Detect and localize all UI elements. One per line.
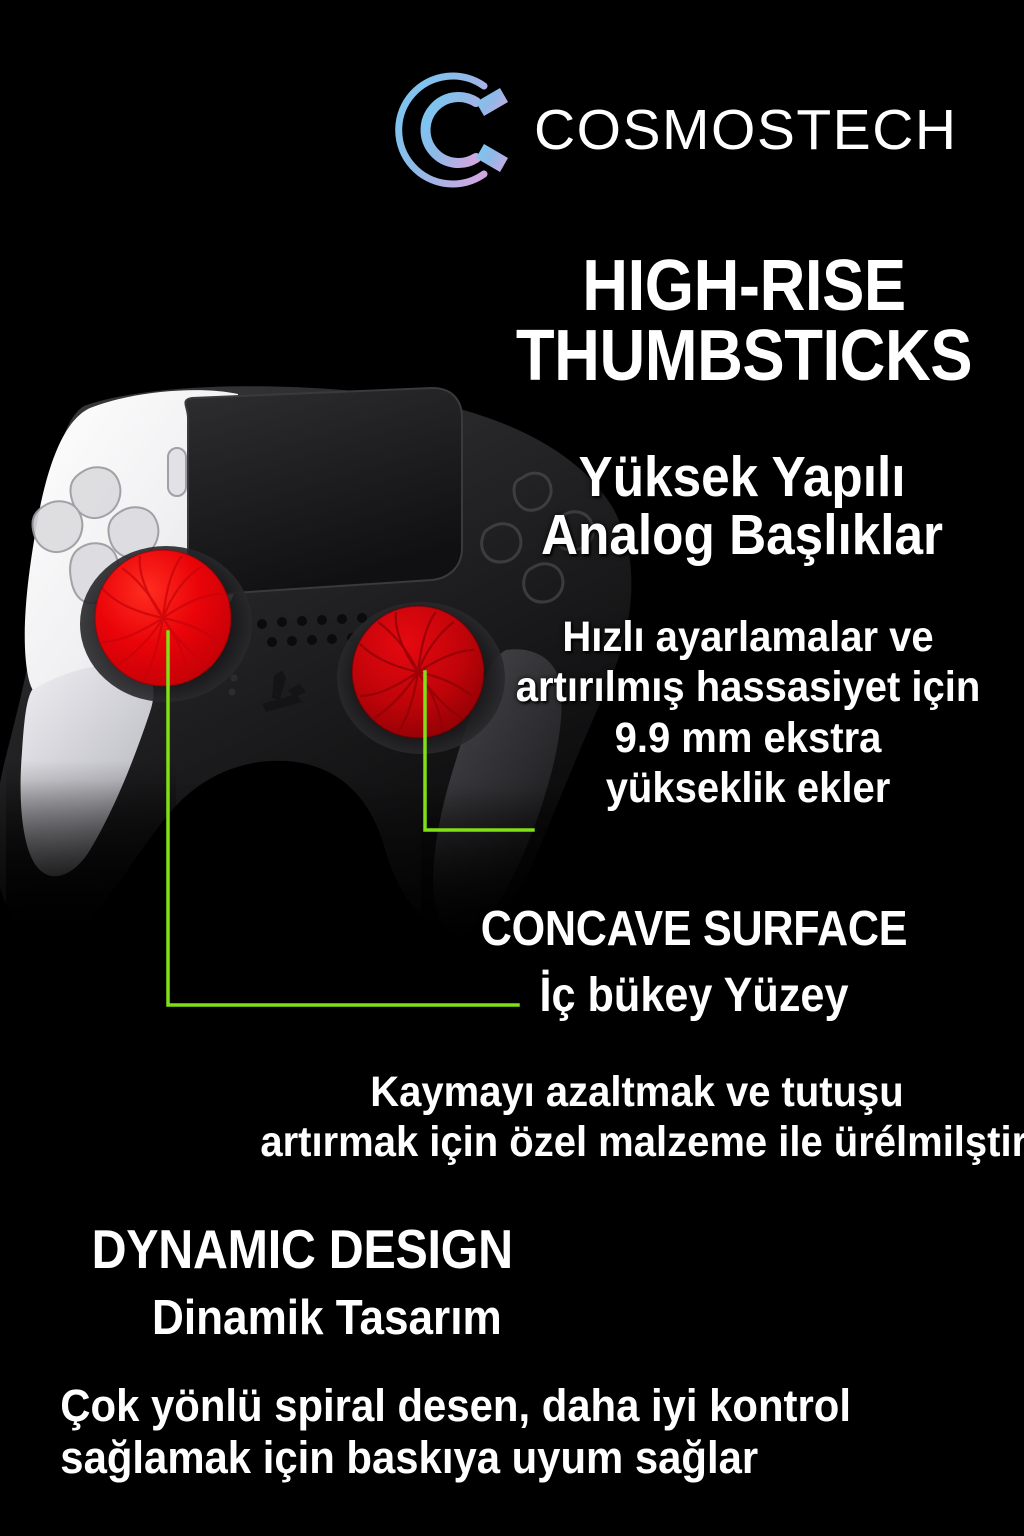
- double-c-logo-icon: [380, 64, 512, 196]
- description-line-2: artırmak için özel malzeme ile ürélmilşt…: [260, 1118, 1013, 1168]
- section-heading-concave: CONCAVE SURFACE: [414, 905, 974, 954]
- section-subheading-high-rise-tr: Yüksek Yapılı Analog Başlıklar: [462, 448, 1022, 564]
- subheading-line-1: Yüksek Yapılı: [490, 448, 994, 506]
- section-description-concave: Kaymayı azaltmak ve tutuşu artırmak için…: [232, 1068, 1024, 1168]
- infographic-page: COSMOSTECH HIGH-RISE THUMBSTICKS Yüksek …: [0, 0, 1024, 1536]
- description-line-1: Kaymayı azaltmak ve tutuşu: [260, 1068, 1013, 1118]
- section-heading-high-rise: HIGH-RISE THUMBSTICKS: [464, 252, 1024, 392]
- description-line-2: sağlamak için baskıya uyum sağlar: [60, 1432, 971, 1484]
- share-button[interactable]: [168, 448, 186, 496]
- subheading-text: İç bükey Yüzey: [442, 972, 946, 1020]
- section-heading-dynamic: DYNAMIC DESIGN: [58, 1222, 618, 1277]
- section-description-high-rise: Hızlı ayarlamalar ve artırılmış hassasiy…: [470, 612, 1024, 813]
- section-subheading-dynamic-tr: Dinamik Tasarım: [124, 1294, 684, 1343]
- heading-text: CONCAVE SURFACE: [448, 905, 941, 954]
- description-line-1: Hızlı ayarlamalar ve: [489, 612, 1006, 662]
- thumbstick-left[interactable]: [80, 546, 252, 702]
- heading-line-1: HIGH-RISE: [498, 252, 991, 322]
- description-line-3: 9.9 mm ekstra: [489, 713, 1006, 763]
- description-line-4: yükseklik ekler: [489, 763, 1006, 813]
- touchpad[interactable]: [185, 388, 462, 594]
- brand-logo: COSMOSTECH: [380, 60, 970, 200]
- subheading-line-2: Analog Başlıklar: [490, 506, 994, 564]
- description-line-1: Çok yönlü spiral desen, daha iyi kontrol: [60, 1380, 971, 1432]
- heading-text: DYNAMIC DESIGN: [92, 1222, 585, 1277]
- description-line-2: artırılmış hassasiyet için: [489, 662, 1006, 712]
- subheading-text: Dinamik Tasarım: [152, 1294, 656, 1343]
- brand-name: COSMOSTECH: [534, 97, 958, 163]
- section-description-dynamic: Çok yönlü spiral desen, daha iyi kontrol…: [26, 1380, 1006, 1484]
- section-subheading-concave-tr: İç bükey Yüzey: [414, 972, 974, 1020]
- heading-line-2: THUMBSTICKS: [498, 322, 991, 392]
